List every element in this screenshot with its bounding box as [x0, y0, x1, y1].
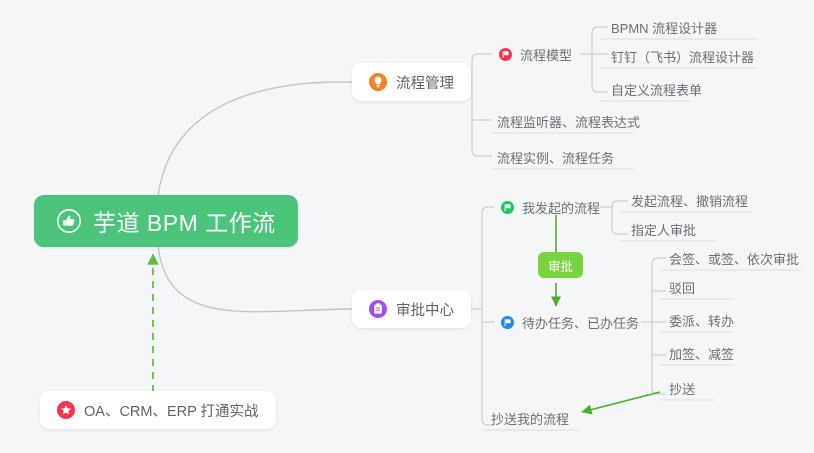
- node-label: 流程实例、流程任务: [497, 148, 614, 167]
- node-my-started-process[interactable]: 我发起的流程: [494, 192, 608, 222]
- node-delegate-transfer[interactable]: 委派、转办: [662, 305, 742, 335]
- flag-icon: [501, 316, 514, 329]
- node-start-cancel-process[interactable]: 发起流程、撤销流程: [624, 185, 756, 215]
- node-label: 加签、减签: [669, 344, 734, 363]
- integration-note-card[interactable]: OA、CRM、ERP 打通实战: [40, 391, 276, 429]
- node-label: 指定人审批: [631, 220, 696, 239]
- branch-label: 审批中心: [396, 299, 454, 320]
- lightbulb-icon: [369, 73, 387, 91]
- branch-approval-center[interactable]: 审批中心: [352, 290, 471, 328]
- node-label: 抄送: [669, 379, 695, 398]
- approval-flow-tag: 审批: [538, 252, 583, 278]
- node-label: 驳回: [669, 278, 695, 297]
- node-custom-form[interactable]: 自定义流程表单: [604, 74, 710, 104]
- node-add-remove-sign[interactable]: 加签、减签: [662, 338, 742, 368]
- node-label: 发起流程、撤销流程: [631, 191, 748, 210]
- node-label: 钉钉（飞书）流程设计器: [611, 47, 754, 66]
- node-label: 我发起的流程: [522, 198, 600, 217]
- thumbs-up-icon: [56, 208, 82, 234]
- node-cc[interactable]: 抄送: [662, 373, 703, 403]
- flag-icon: [499, 48, 512, 61]
- node-instance-task[interactable]: 流程实例、流程任务: [490, 142, 622, 172]
- note-label: OA、CRM、ERP 打通实战: [84, 400, 259, 421]
- node-bpmn-designer[interactable]: BPMN 流程设计器: [604, 12, 725, 42]
- node-listener-expression[interactable]: 流程监听器、流程表达式: [490, 106, 648, 136]
- node-countersign[interactable]: 会签、或签、依次审批: [662, 243, 807, 273]
- branch-label: 流程管理: [396, 72, 454, 93]
- node-label: 自定义流程表单: [611, 80, 702, 99]
- star-icon: [57, 401, 75, 419]
- tag-label: 审批: [548, 256, 573, 275]
- mindmap-canvas: 芋道 BPM 工作流 流程管理 流程模型 BPMN 流程设计器 钉钉（飞书）流程…: [0, 0, 814, 453]
- node-assignee-approval[interactable]: 指定人审批: [624, 214, 704, 244]
- clipboard-icon: [369, 300, 387, 318]
- node-dingtalk-feishu-designer[interactable]: 钉钉（飞书）流程设计器: [604, 41, 762, 71]
- node-reject[interactable]: 驳回: [662, 272, 703, 302]
- node-cc-to-me[interactable]: 抄送我的流程: [484, 403, 577, 433]
- root-node[interactable]: 芋道 BPM 工作流: [34, 195, 298, 247]
- root-label: 芋道 BPM 工作流: [93, 204, 276, 238]
- flag-icon: [501, 201, 514, 214]
- node-todo-done-task[interactable]: 待办任务、已办任务: [494, 307, 647, 337]
- node-label: 抄送我的流程: [491, 409, 569, 428]
- node-label: 会签、或签、依次审批: [669, 249, 799, 268]
- node-label: 委派、转办: [669, 311, 734, 330]
- branch-process-management[interactable]: 流程管理: [352, 63, 471, 101]
- node-label: BPMN 流程设计器: [611, 18, 717, 37]
- node-process-model[interactable]: 流程模型: [492, 39, 580, 69]
- node-label: 流程模型: [520, 45, 572, 64]
- node-label: 待办任务、已办任务: [522, 313, 639, 332]
- node-label: 流程监听器、流程表达式: [497, 112, 640, 131]
